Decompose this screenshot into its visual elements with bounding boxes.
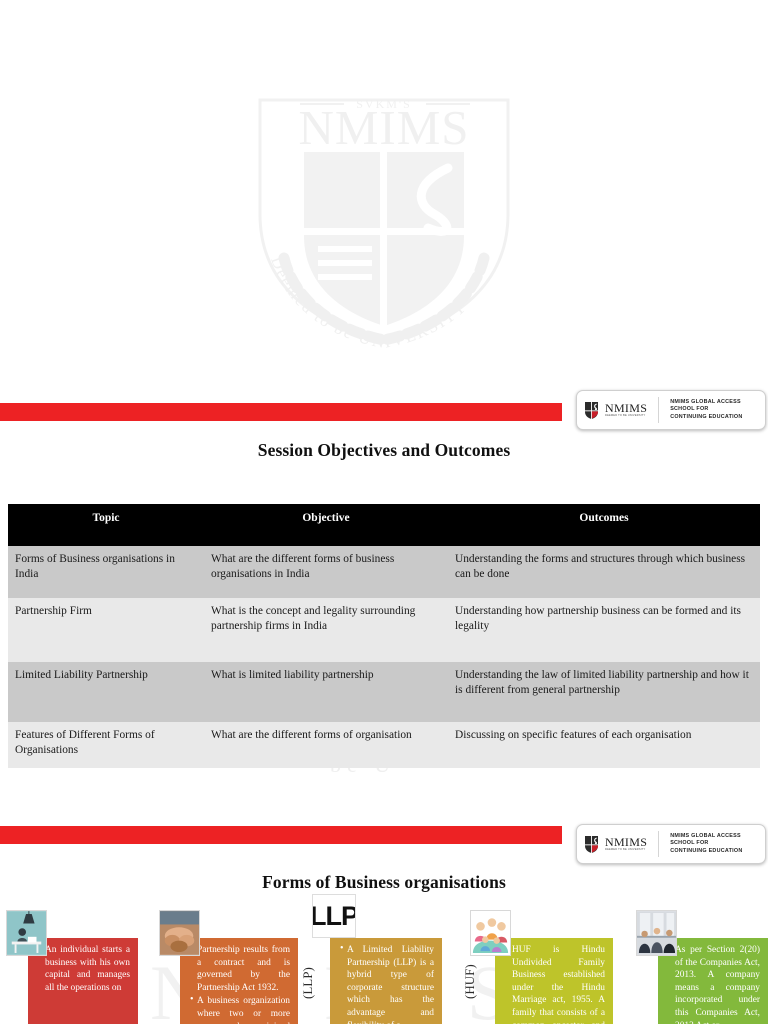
nmims-shield-icon [584,835,599,854]
table-row: Forms of Business organisations in India… [8,546,760,598]
cell-objective: What is the concept and legality surroun… [204,598,448,662]
nmims-crest-watermark: SVKM'S NMIMS [238,86,530,348]
badge-tagline: NMIMS GLOBAL ACCESS SCHOOL FOR CONTINUIN… [670,833,742,855]
badge-tagline-line-3: CONTINUING EDUCATION [670,848,742,855]
card-bullet: An individual starts a business with his… [38,944,130,994]
llp-text-icon: LLP [312,894,356,938]
badge-tagline-line-2: SCHOOL FOR [670,406,742,413]
card-bullet: A Limited Liability Partnership (LLP) is… [340,944,434,1024]
nmims-wordmark-text: NMIMS [605,836,647,848]
badge-tagline-line-2: SCHOOL FOR [670,840,742,847]
nmims-wordmark: NMIMS DEEMED TO BE UNIVERSITY [605,402,647,418]
card-bullet: A business organization where two or mor… [190,995,290,1024]
person-at-desk-icon [6,910,47,956]
cell-objective: What is limited liability partnership [204,662,448,722]
card-hindu-undivided-family: HUF is Hindu Undivided Family Business e… [495,938,613,1024]
table-row: Partnership Firm What is the concept and… [8,598,760,662]
page-title-session-objectives: Session Objectives and Outcomes [0,440,768,461]
hands-together-icon [159,910,200,956]
table-row: Limited Liability Partnership What is li… [8,662,760,722]
cell-outcome: Understanding the forms and structures t… [448,546,760,598]
slide-session-objectives: NMIMS DEEMED TO BE UNIVERSITY NMIMS GLOB… [0,396,768,814]
cell-outcome: Understanding the law of limited liabili… [448,662,760,722]
table-row: Features of Different Forms of Organisat… [8,722,760,768]
badge-tagline-line-1: NMIMS GLOBAL ACCESS [670,833,742,840]
session-objectives-table: Topic Objective Outcomes Forms of Busine… [8,504,760,768]
badge-divider [658,397,659,423]
cell-objective: What are the different forms of business… [204,546,448,598]
cell-topic: Partnership Firm [8,598,204,662]
card-bullet: HUF is Hindu Undivided Family Business e… [505,944,605,1024]
nmims-wordmark: NMIMS DEEMED TO BE UNIVERSITY [605,836,647,852]
family-group-icon [470,910,511,956]
column-header-topic: Topic [8,504,204,546]
business-meeting-icon [636,910,677,956]
card-bullet: As per Section 2(20) of the Companies Ac… [668,944,760,1024]
slide-forms-of-business: NMIMS DEEMED TO BE UNIVERSITY NMIMS GLOB… [0,814,768,1024]
svg-text:NMIMS: NMIMS [298,100,469,155]
cell-outcome: Understanding how partnership business c… [448,598,760,662]
vertical-label-llp: (LLP) [300,967,316,999]
cell-topic: Forms of Business organisations in India [8,546,204,598]
slide-title-crest: SVKM'S NMIMS [0,0,768,396]
cell-objective: What are the different forms of organisa… [204,722,448,768]
vertical-label-huf: (HUF) [462,964,478,999]
nmims-shield-icon [584,401,599,420]
nmims-logo-badge: NMIMS DEEMED TO BE UNIVERSITY NMIMS GLOB… [576,824,766,864]
badge-tagline: NMIMS GLOBAL ACCESS SCHOOL FOR CONTINUIN… [670,399,742,421]
nmims-wordmark-subtext: DEEMED TO BE UNIVERSITY [605,848,647,852]
card-bullet: Partnership results from a contract and … [190,944,290,994]
slide-deck-page: SVKM'S NMIMS [0,0,768,1024]
nmims-wordmark-subtext: DEEMED TO BE UNIVERSITY [605,414,647,418]
badge-tagline-line-3: CONTINUING EDUCATION [670,414,742,421]
cell-topic: Features of Different Forms of Organisat… [8,722,204,768]
cell-outcome: Discussing on specific features of each … [448,722,760,768]
table-header-row: Topic Objective Outcomes [8,504,760,546]
header-red-bar [0,403,562,421]
column-header-objective: Objective [204,504,448,546]
badge-tagline-line-1: NMIMS GLOBAL ACCESS [670,399,742,406]
page-title-forms-of-business: Forms of Business organisations [0,872,768,893]
header-red-bar [0,826,562,844]
cell-topic: Limited Liability Partnership [8,662,204,722]
nmims-wordmark-text: NMIMS [605,402,647,414]
badge-divider [658,831,659,857]
nmims-logo-badge: NMIMS DEEMED TO BE UNIVERSITY NMIMS GLOB… [576,390,766,430]
card-limited-liability-partnership: A Limited Liability Partnership (LLP) is… [330,938,442,1024]
column-header-outcomes: Outcomes [448,504,760,546]
